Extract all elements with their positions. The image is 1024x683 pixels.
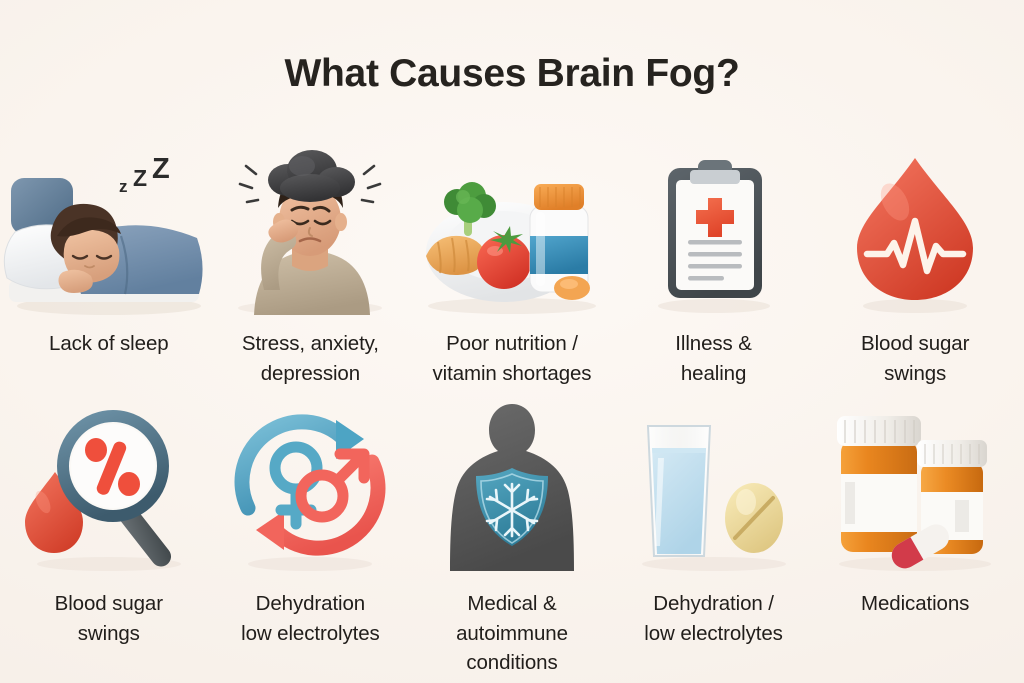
cause-label: Blood sugar swings bbox=[861, 329, 969, 388]
stressed-person-storm-cloud-icon bbox=[210, 140, 410, 315]
cause-label: Blood sugar swings bbox=[55, 589, 163, 648]
cause-label: Lack of sleep bbox=[49, 329, 169, 359]
plate-of-food-supplement-bottle-icon bbox=[412, 140, 612, 315]
cause-item-blood-sugar-swings-1: Blood sugar swings bbox=[814, 140, 1016, 388]
cause-label: Illness & healing bbox=[675, 329, 752, 388]
cause-label: Poor nutrition / vitamin shortages bbox=[433, 329, 592, 388]
cause-item-dehydration-low-electrolytes-2: Dehydration / low electrolytes bbox=[613, 396, 815, 678]
medical-clipboard-icon bbox=[614, 140, 814, 315]
cause-row-2: Blood sugar swings bbox=[0, 396, 1024, 678]
cause-label: Dehydration low electrolytes bbox=[241, 589, 380, 648]
cause-label: Dehydration / low electrolytes bbox=[644, 589, 783, 648]
svg-text:Z: Z bbox=[152, 153, 170, 185]
cause-item-stress-anxiety-depression: Stress, anxiety, depression bbox=[210, 140, 412, 388]
blood-drop-heartbeat-icon bbox=[815, 140, 1015, 315]
svg-text:z: z bbox=[119, 177, 128, 196]
cause-label: Stress, anxiety, depression bbox=[242, 329, 379, 388]
cause-label: Medical & autoimmune conditions bbox=[456, 589, 568, 678]
page-title: What Causes Brain Fog? bbox=[0, 52, 1024, 96]
magnifying-glass-percent-blood-drop-icon bbox=[9, 396, 209, 571]
cause-item-medical-autoimmune: Medical & autoimmune conditions bbox=[411, 396, 613, 678]
cause-item-illness-healing: Illness & healing bbox=[613, 140, 815, 388]
cause-row-1: z Z Z Lack of sleep bbox=[0, 140, 1024, 388]
hormone-cycle-arrows-icon bbox=[210, 396, 410, 571]
body-silhouette-immune-shield-icon bbox=[412, 396, 612, 571]
cause-item-dehydration-low-electrolytes-1: Dehydration low electrolytes bbox=[210, 396, 412, 678]
cause-item-blood-sugar-swings-2: Blood sugar swings bbox=[8, 396, 210, 678]
water-glass-tablet-icon bbox=[614, 396, 814, 571]
pill-bottles-capsule-icon bbox=[815, 396, 1015, 571]
infographic-canvas: What Causes Brain Fog? bbox=[0, 0, 1024, 683]
sleeping-person-icon: z Z Z bbox=[9, 140, 209, 315]
cause-item-poor-nutrition: Poor nutrition / vitamin shortages bbox=[411, 140, 613, 388]
cause-item-lack-of-sleep: z Z Z Lack of sleep bbox=[8, 140, 210, 388]
cause-item-medications: Medications bbox=[814, 396, 1016, 678]
cause-label: Medications bbox=[861, 589, 969, 619]
svg-text:Z: Z bbox=[133, 165, 147, 191]
